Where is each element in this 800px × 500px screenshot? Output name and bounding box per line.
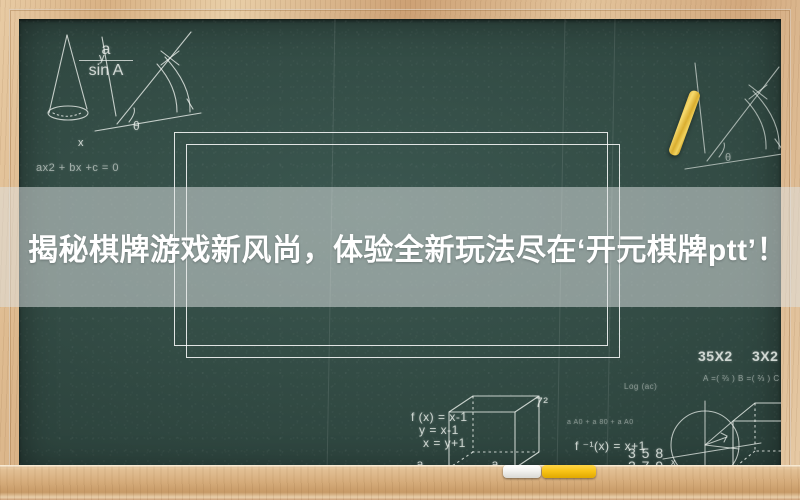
headline-band: 揭秘棋牌游戏新风尚，体验全新玩法尽在‘开元棋牌ptt’！: [0, 187, 800, 307]
white-chalk-stick: [503, 465, 541, 478]
page-title: 揭秘棋牌游戏新风尚，体验全新玩法尽在‘开元棋牌ptt’！: [0, 225, 787, 269]
chalkboard-banner: a sin A y x θ ax2 + bx +c = 0: [0, 0, 800, 500]
yellow-chalk-stick: [542, 465, 596, 478]
chalk-tray-ledge: [0, 465, 800, 500]
ledge-highlight: [0, 465, 800, 468]
